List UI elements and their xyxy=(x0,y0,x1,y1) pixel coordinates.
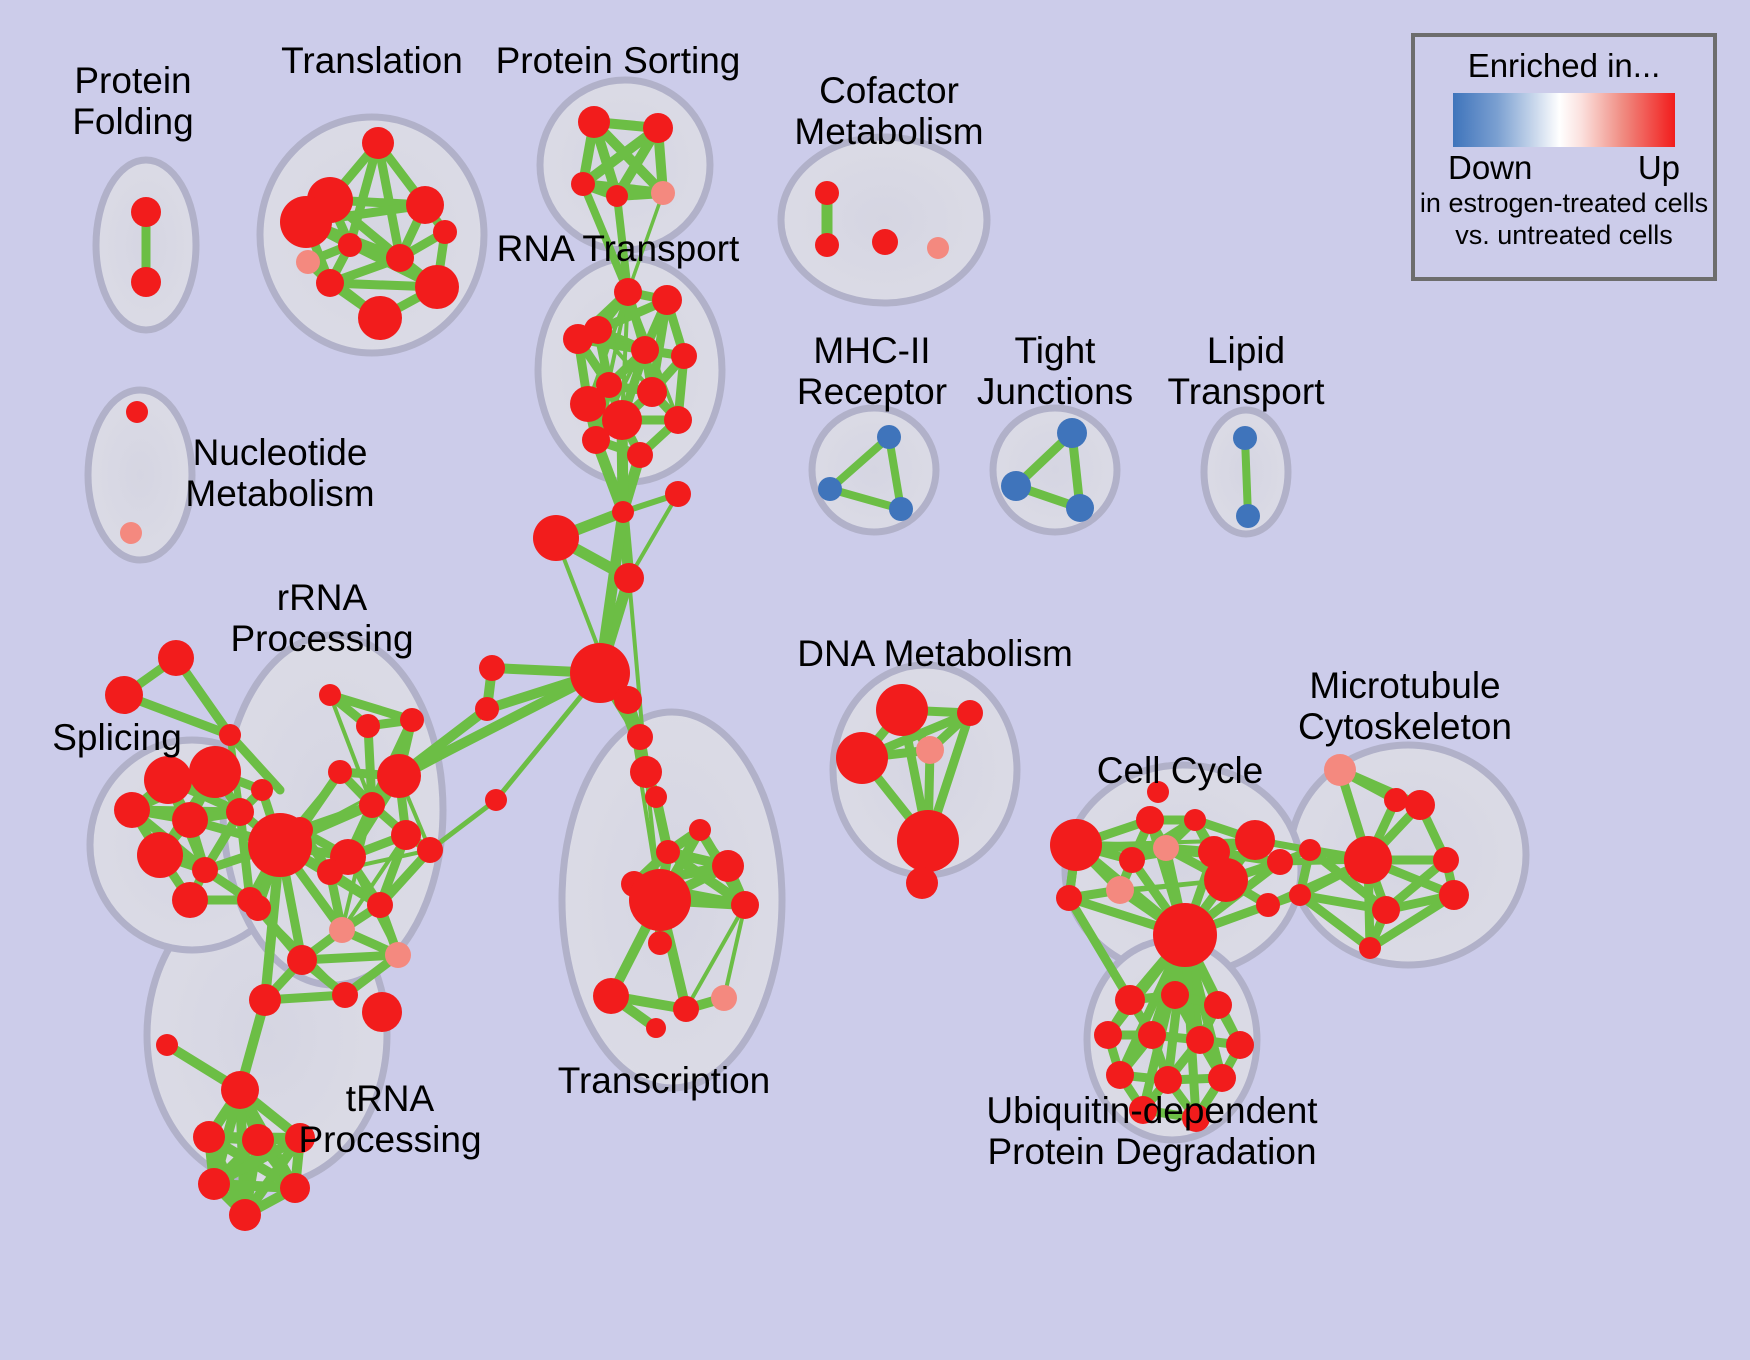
hull-mhc-ii-receptor xyxy=(812,408,936,532)
hull-tight-junctions xyxy=(993,408,1117,532)
node xyxy=(1256,893,1280,917)
legend-title: Enriched in... xyxy=(1468,47,1661,85)
node xyxy=(643,113,673,143)
node xyxy=(1066,494,1094,522)
node xyxy=(711,985,737,1011)
node xyxy=(582,426,610,454)
node xyxy=(114,792,150,828)
node xyxy=(316,269,344,297)
node xyxy=(1267,849,1293,875)
node xyxy=(296,250,320,274)
node xyxy=(1299,839,1321,861)
node xyxy=(479,655,505,681)
node xyxy=(1153,835,1179,861)
node xyxy=(242,1124,274,1156)
node xyxy=(1161,981,1189,1009)
node xyxy=(120,522,142,544)
node xyxy=(646,1018,666,1038)
legend-up-label: Up xyxy=(1638,149,1680,187)
node xyxy=(818,477,842,501)
legend-box: Enriched in... Down Up in estrogen-treat… xyxy=(1411,33,1717,281)
node xyxy=(328,760,352,784)
node xyxy=(105,676,143,714)
legend-color-gradient-bar xyxy=(1453,93,1675,147)
node xyxy=(614,563,644,593)
hull-protein-sorting xyxy=(540,80,710,250)
legend-subtitle-line2: vs. untreated cells xyxy=(1455,221,1673,251)
node xyxy=(731,891,759,919)
node xyxy=(285,1123,315,1153)
node xyxy=(245,895,271,921)
node xyxy=(877,425,901,449)
node xyxy=(631,336,659,364)
node xyxy=(906,867,938,899)
node xyxy=(406,186,444,224)
node xyxy=(1226,1031,1254,1059)
node xyxy=(485,789,507,811)
node xyxy=(651,181,675,205)
node xyxy=(1057,418,1087,448)
node xyxy=(391,820,421,850)
node xyxy=(1106,1061,1134,1089)
node xyxy=(1147,781,1169,803)
node xyxy=(1405,790,1435,820)
node xyxy=(1184,809,1206,831)
node xyxy=(1136,806,1164,834)
node xyxy=(249,984,281,1016)
node xyxy=(1153,903,1217,967)
node xyxy=(1138,1021,1166,1049)
node xyxy=(1204,858,1248,902)
node xyxy=(158,640,194,676)
node xyxy=(627,442,653,468)
node xyxy=(1236,504,1260,528)
legend-end-labels: Down Up xyxy=(1448,149,1680,187)
node xyxy=(1324,754,1356,786)
hull-cofactor-metabolism xyxy=(781,137,987,303)
node xyxy=(226,798,254,826)
node xyxy=(356,714,380,738)
node xyxy=(362,992,402,1032)
node xyxy=(377,754,421,798)
node xyxy=(593,978,629,1014)
node xyxy=(172,882,208,918)
node xyxy=(689,819,711,841)
node xyxy=(1384,788,1408,812)
node xyxy=(1372,896,1400,924)
node xyxy=(563,324,593,354)
node xyxy=(916,736,944,764)
node xyxy=(957,700,983,726)
node xyxy=(251,779,273,801)
node xyxy=(1208,1064,1236,1092)
node xyxy=(927,237,949,259)
node xyxy=(876,684,928,736)
node xyxy=(570,386,606,422)
node xyxy=(189,746,241,798)
node xyxy=(1359,937,1381,959)
node xyxy=(280,196,332,248)
node xyxy=(614,686,642,714)
node xyxy=(1433,847,1459,873)
node xyxy=(533,515,579,561)
node xyxy=(815,181,839,205)
node xyxy=(317,859,343,885)
node xyxy=(126,401,148,423)
node xyxy=(417,837,443,863)
node xyxy=(656,840,680,864)
node xyxy=(1289,884,1311,906)
node xyxy=(614,278,642,306)
node xyxy=(1129,1096,1157,1124)
node xyxy=(1056,885,1082,911)
node xyxy=(1439,880,1469,910)
node xyxy=(198,1168,230,1200)
node xyxy=(319,684,341,706)
node xyxy=(627,724,653,750)
node xyxy=(664,406,692,434)
node xyxy=(606,185,628,207)
node xyxy=(193,1121,225,1153)
node xyxy=(671,343,697,369)
node xyxy=(872,229,898,255)
node xyxy=(665,481,691,507)
node xyxy=(385,942,411,968)
node xyxy=(1106,876,1134,904)
legend-subtitle-line1: in estrogen-treated cells xyxy=(1420,189,1708,219)
node xyxy=(897,810,959,872)
node xyxy=(836,732,888,784)
node xyxy=(612,501,634,523)
node xyxy=(433,220,457,244)
node xyxy=(248,813,312,877)
node xyxy=(578,106,610,138)
node xyxy=(815,233,839,257)
node xyxy=(712,850,744,882)
node xyxy=(287,945,317,975)
node xyxy=(219,724,241,746)
node xyxy=(475,697,499,721)
node xyxy=(1204,991,1232,1019)
node xyxy=(1182,1104,1210,1132)
node xyxy=(221,1071,259,1109)
node xyxy=(1050,819,1102,871)
node xyxy=(571,172,595,196)
node xyxy=(386,244,414,272)
node xyxy=(648,931,672,955)
node xyxy=(415,265,459,309)
node xyxy=(229,1199,261,1231)
node xyxy=(280,1173,310,1203)
node xyxy=(367,892,393,918)
node xyxy=(630,756,662,788)
node xyxy=(192,857,218,883)
node xyxy=(358,296,402,340)
node xyxy=(329,917,355,943)
node xyxy=(359,792,385,818)
node xyxy=(673,996,699,1022)
node xyxy=(1001,471,1031,501)
node xyxy=(1094,1021,1122,1049)
legend-down-label: Down xyxy=(1448,149,1532,187)
network-figure: Protein Folding Translation Protein Sort… xyxy=(0,0,1750,1360)
node xyxy=(131,267,161,297)
node xyxy=(1186,1026,1214,1054)
node xyxy=(144,756,192,804)
node xyxy=(1233,426,1257,450)
node xyxy=(652,285,682,315)
node xyxy=(1235,820,1275,860)
node xyxy=(629,869,691,931)
node xyxy=(338,233,362,257)
node xyxy=(637,377,667,407)
node xyxy=(362,127,394,159)
node xyxy=(137,832,183,878)
node xyxy=(1119,847,1145,873)
node xyxy=(1115,985,1145,1015)
node xyxy=(172,802,208,838)
node xyxy=(156,1034,178,1056)
node xyxy=(1344,836,1392,884)
node xyxy=(889,497,913,521)
node xyxy=(645,786,667,808)
node xyxy=(332,982,358,1008)
node xyxy=(1154,1066,1182,1094)
node xyxy=(400,708,424,732)
node xyxy=(131,197,161,227)
